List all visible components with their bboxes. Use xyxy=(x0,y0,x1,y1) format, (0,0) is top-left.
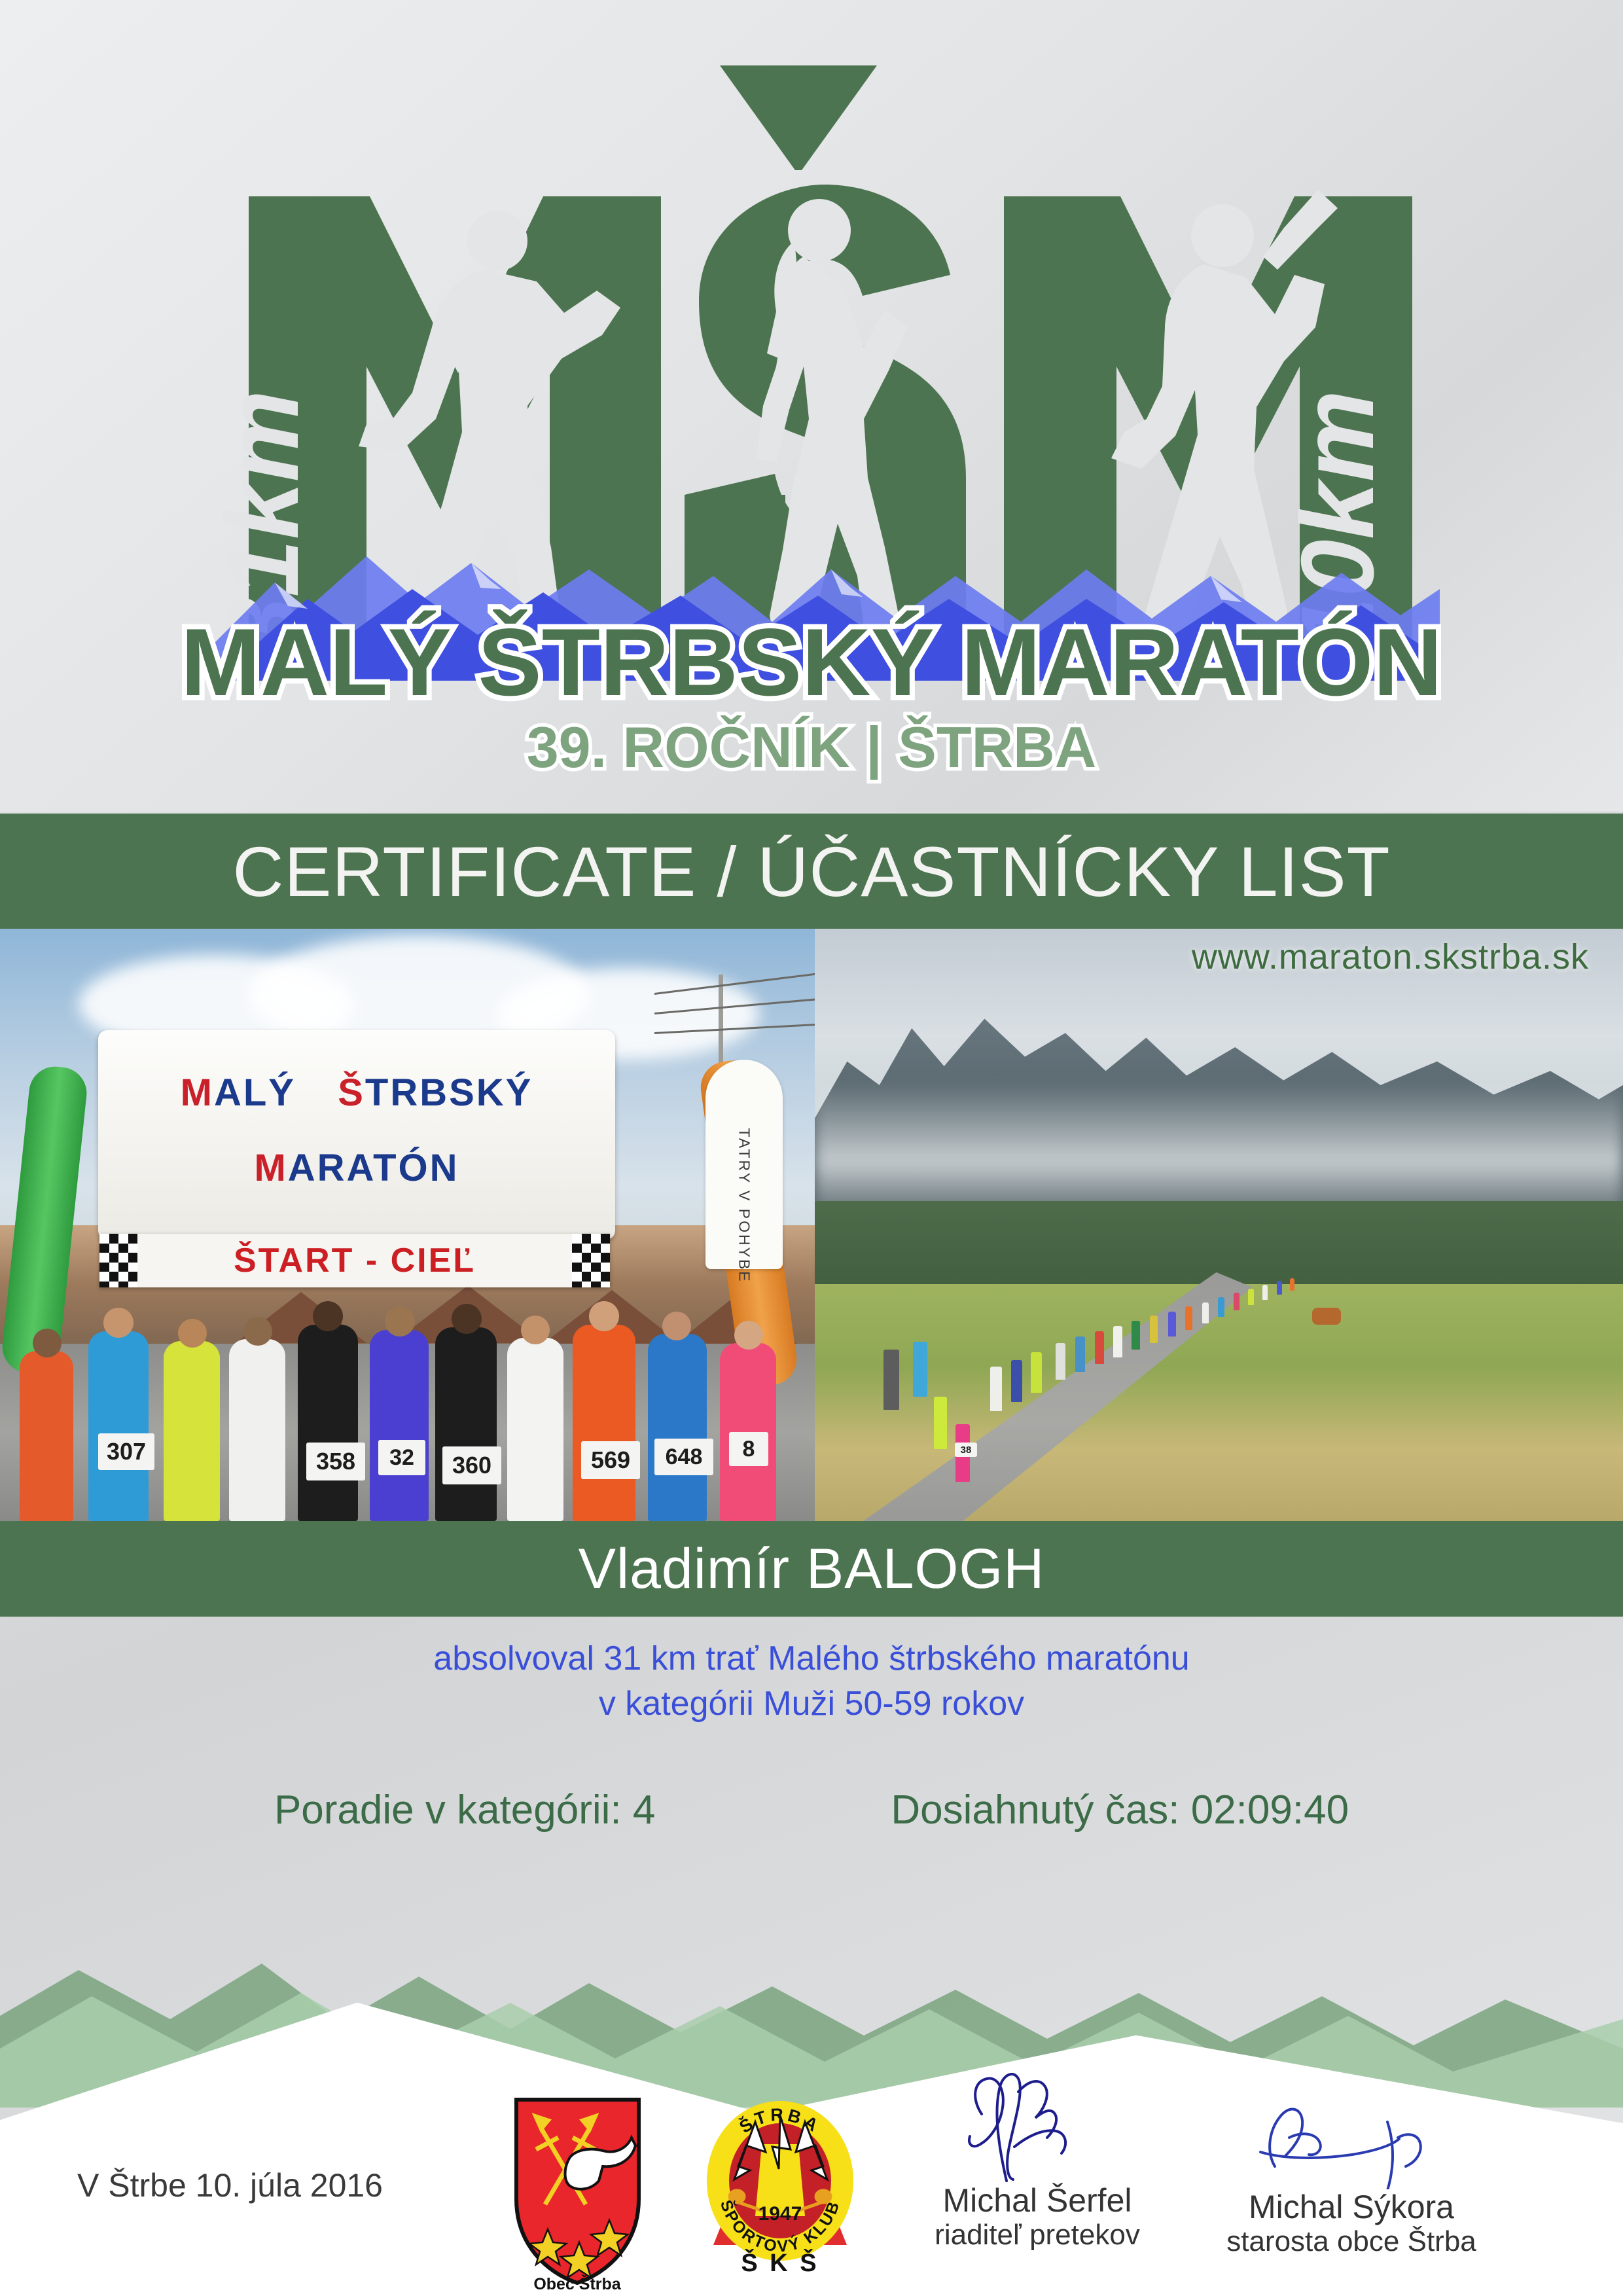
footer: V Štrbe 10. júla 2016 Obec Štrba xyxy=(0,2068,1623,2296)
checker-flag-left xyxy=(99,1234,137,1287)
sks-club-emblem-icon: 1947 ŠTRBA ŠPORTOVÝ KLUB Š K Š xyxy=(695,2081,865,2291)
photo-start-line: MALÝ ŠTRBSKÝ MARATÓN ŠTART - CIEĽ TATRY … xyxy=(0,929,815,1521)
photo-tatras-road: 38 www.maraton.skstrba.sk xyxy=(815,929,1623,1521)
participant-name-band: Vladimír BALOGH xyxy=(0,1521,1623,1617)
sponsor-flag: TATRY V POHYBE xyxy=(705,1060,783,1269)
runner xyxy=(298,1325,358,1521)
runner xyxy=(88,1331,149,1521)
runner xyxy=(1290,1278,1294,1291)
runner xyxy=(435,1327,497,1521)
signature-name-2: Michal Sýkora xyxy=(1198,2189,1505,2225)
runner xyxy=(164,1341,220,1521)
arch-banner-m1: M xyxy=(181,1071,214,1114)
runner-head xyxy=(313,1301,343,1331)
signature-mark-sykora-icon xyxy=(1198,2075,1505,2189)
runner xyxy=(229,1339,285,1521)
runner xyxy=(1113,1326,1122,1357)
signature-block-director: Michal Šerfel riaditeľ pretekov xyxy=(883,2068,1191,2252)
finish-time: Dosiahnutý čas: 02:09:40 xyxy=(891,1787,1349,1833)
certificate-title: CERTIFICATE / ÚČASTNÍCKY LIST xyxy=(232,831,1390,912)
start-finish-text: ŠTART - CIEĽ xyxy=(234,1241,476,1280)
participant-details: absolvoval 31 km trať Malého štrbského m… xyxy=(0,1636,1623,1726)
runner-head xyxy=(178,1319,207,1348)
bib-number: 307 xyxy=(98,1433,154,1470)
runner xyxy=(1031,1352,1042,1393)
bib-number: 8 xyxy=(729,1432,768,1466)
runner xyxy=(20,1351,73,1521)
runner xyxy=(1202,1302,1209,1323)
signature-name-1: Michal Šerfel xyxy=(883,2183,1191,2218)
detail-line-1: absolvoval 31 km trať Malého štrbského m… xyxy=(0,1636,1623,1681)
runner xyxy=(1234,1293,1240,1310)
runner-head xyxy=(662,1312,691,1340)
arch-banner-s: Š xyxy=(338,1071,365,1114)
bib-number: 358 xyxy=(306,1443,365,1480)
website-url: www.maraton.skstrba.sk xyxy=(1192,937,1589,977)
runner xyxy=(1262,1285,1268,1300)
signature-block-mayor: Michal Sýkora starosta obce Štrba xyxy=(1198,2075,1505,2259)
bib-number: 32 xyxy=(378,1440,425,1475)
runner xyxy=(1277,1281,1282,1295)
runner xyxy=(990,1367,1002,1411)
msm-logo: 31km 10km xyxy=(0,0,1623,812)
issue-date: V Štrbe 10. júla 2016 xyxy=(77,2166,383,2204)
category-rank: Poradie v kategórii: 4 xyxy=(274,1787,655,1833)
runner xyxy=(507,1338,563,1521)
start-finish-ribbon: ŠTART - CIEĽ xyxy=(99,1234,610,1287)
checker-flag-right xyxy=(572,1234,610,1287)
spectator xyxy=(883,1350,899,1410)
runner xyxy=(1168,1312,1176,1336)
arch-banner-aly: ALÝ xyxy=(214,1071,296,1114)
sponsor-flag-text: TATRY V POHYBE xyxy=(736,1128,753,1206)
runner-head xyxy=(452,1304,482,1334)
runner-head xyxy=(103,1308,134,1338)
bib-number: 360 xyxy=(442,1446,501,1484)
runner xyxy=(370,1330,429,1521)
obec-strba-crest-icon: Obec Štrba xyxy=(507,2094,648,2291)
runner xyxy=(1218,1297,1224,1317)
sks-bottom-text: Š K Š xyxy=(741,2248,819,2277)
bib-number: 569 xyxy=(581,1441,640,1479)
logo-subtitle: 39. ROČNÍK | ŠTRBA xyxy=(527,715,1097,780)
arch-banner-araton: ARATÓN xyxy=(288,1147,459,1189)
certificate-band: CERTIFICATE / ÚČASTNÍCKY LIST xyxy=(0,814,1623,929)
bib-number: 38 xyxy=(955,1443,977,1457)
runner xyxy=(1095,1331,1104,1364)
runner xyxy=(934,1397,947,1449)
runner xyxy=(1185,1306,1192,1330)
runner-head xyxy=(734,1321,763,1350)
certificate-page: 31km 10km xyxy=(0,0,1623,2296)
signature-mark-serfel-icon xyxy=(883,2068,1191,2183)
runner xyxy=(1011,1360,1022,1402)
runner-head xyxy=(589,1301,619,1331)
arch-banner: MALÝ ŠTRBSKÝ MARATÓN xyxy=(98,1030,615,1240)
logo-title: MALÝ ŠTRBSKÝ MARATÓN xyxy=(181,609,1442,715)
runner xyxy=(648,1334,707,1521)
cow xyxy=(1312,1308,1341,1325)
runner-head xyxy=(385,1306,415,1336)
detail-line-2: v kategórii Muži 50-59 rokov xyxy=(0,1681,1623,1727)
runner xyxy=(1075,1336,1085,1372)
logo-header: 31km 10km xyxy=(0,0,1623,812)
runner xyxy=(1150,1316,1158,1343)
signature-role-1: riaditeľ pretekov xyxy=(883,2218,1191,2252)
runner-head xyxy=(521,1316,550,1344)
spectator xyxy=(913,1342,927,1397)
participant-name: Vladimír BALOGH xyxy=(579,1537,1045,1602)
obec-strba-label: Obec Štrba xyxy=(533,2274,621,2291)
photo-strip: MALÝ ŠTRBSKÝ MARATÓN ŠTART - CIEĽ TATRY … xyxy=(0,929,1623,1521)
sks-year: 1947 xyxy=(758,2203,802,2225)
arch-banner-m2: M xyxy=(254,1147,287,1189)
signature-role-2: starosta obce Štrba xyxy=(1198,2225,1505,2259)
runner xyxy=(573,1325,635,1521)
runner-head xyxy=(33,1329,62,1357)
arch-banner-trbsky: TRBSKÝ xyxy=(365,1071,533,1114)
result-row: Poradie v kategórii: 4 Dosiahnutý čas: 0… xyxy=(0,1787,1623,1833)
runner xyxy=(1248,1289,1254,1305)
runner-head xyxy=(243,1317,272,1346)
bib-number: 648 xyxy=(654,1439,713,1475)
runner xyxy=(1056,1343,1065,1380)
runner xyxy=(1132,1321,1140,1350)
